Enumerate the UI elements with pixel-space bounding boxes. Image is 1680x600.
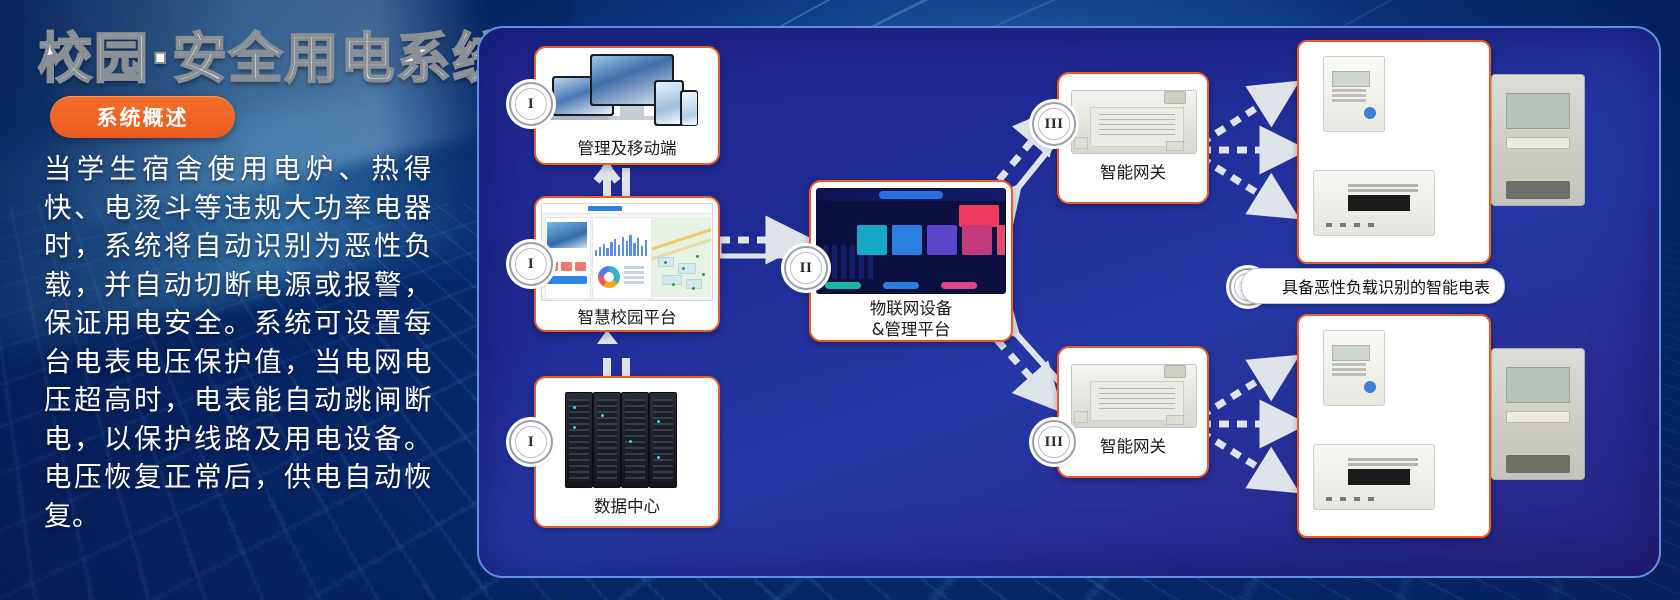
node-gateway-top[interactable]: 智能网关 [1057,72,1209,204]
node-iot-platform-label-1: 物联网设备 [811,298,1011,319]
badge-gateway-bottom: III [1032,420,1076,464]
iot-dashboard-icon [816,188,1006,294]
node-data-center-label: 数据中心 [536,496,718,517]
badge-gateway-bottom-text: III [1038,426,1070,458]
connector-gateway-bottom-to-meters [1201,364,1291,484]
page-title: 校园·安全用电系统 [38,14,509,93]
architecture-diagram-frame: 管理及移动端 I [477,26,1661,578]
dashboard-map-icon [541,203,713,301]
badge-admin-mobile: I [509,82,553,126]
badge-admin-mobile-text: I [515,88,547,120]
section-badge-label: 系统概述 [97,102,189,132]
connector-gateway-top-to-meters [1201,90,1291,210]
badge-smart-campus: I [509,242,553,286]
badge-gateway-top-text: III [1038,108,1070,140]
badge-smart-campus-text: I [515,248,547,280]
meters-panel-bottom[interactable] [1297,314,1491,538]
connector-campus-to-iot [719,240,797,256]
smart-meter-caption[interactable]: 具备恶性负载识别的智能电表 [1241,268,1505,304]
left-info-panel: 校园·安全用电系统 系统概述 当学生宿舍使用电炉、热得快、电烫斗等违规大功率电器… [0,0,470,600]
badge-data-center-text: I [515,426,547,458]
section-badge: 系统概述 [50,96,235,138]
badge-data-center: I [509,420,553,464]
node-admin-mobile[interactable]: 管理及移动端 [534,46,720,165]
node-iot-platform[interactable]: 物联网设备 &管理平台 [809,180,1013,342]
node-smart-campus[interactable]: 智慧校园平台 [534,196,720,332]
electric-meter-icon [1323,56,1385,132]
node-iot-platform-label-2: &管理平台 [811,319,1011,340]
electric-meter-icon [1313,444,1435,510]
node-smart-campus-label: 智慧校园平台 [536,307,718,328]
gateway-device-icon [1067,356,1199,434]
poster-stage: 校园·安全用电系统 系统概述 当学生宿舍使用电炉、热得快、电烫斗等违规大功率电器… [0,0,1680,600]
meters-panel-top[interactable] [1297,40,1491,264]
node-gateway-bottom[interactable]: 智能网关 [1057,346,1209,478]
badge-iot-platform: II [784,246,828,290]
smart-meter-caption-text: 具备恶性负载识别的智能电表 [1282,274,1490,298]
node-gateway-bottom-label: 智能网关 [1059,436,1207,457]
gateway-device-icon [1067,82,1199,160]
electric-meter-icon [1323,330,1385,406]
devices-icon [552,54,702,134]
node-admin-mobile-label: 管理及移动端 [536,138,718,159]
badge-iot-platform-text: II [790,252,822,284]
electric-meter-icon [1313,170,1435,236]
badge-gateway-top: III [1032,102,1076,146]
electric-meter-icon [1491,74,1585,206]
node-data-center[interactable]: 数据中心 [534,376,720,528]
server-rack-icon [565,386,689,490]
node-gateway-top-label: 智能网关 [1059,162,1207,183]
overview-paragraph: 当学生宿舍使用电炉、热得快、电烫斗等违规大功率电器时，系统将自动识别为恶性负载，… [44,150,432,535]
electric-meter-icon [1491,348,1585,480]
